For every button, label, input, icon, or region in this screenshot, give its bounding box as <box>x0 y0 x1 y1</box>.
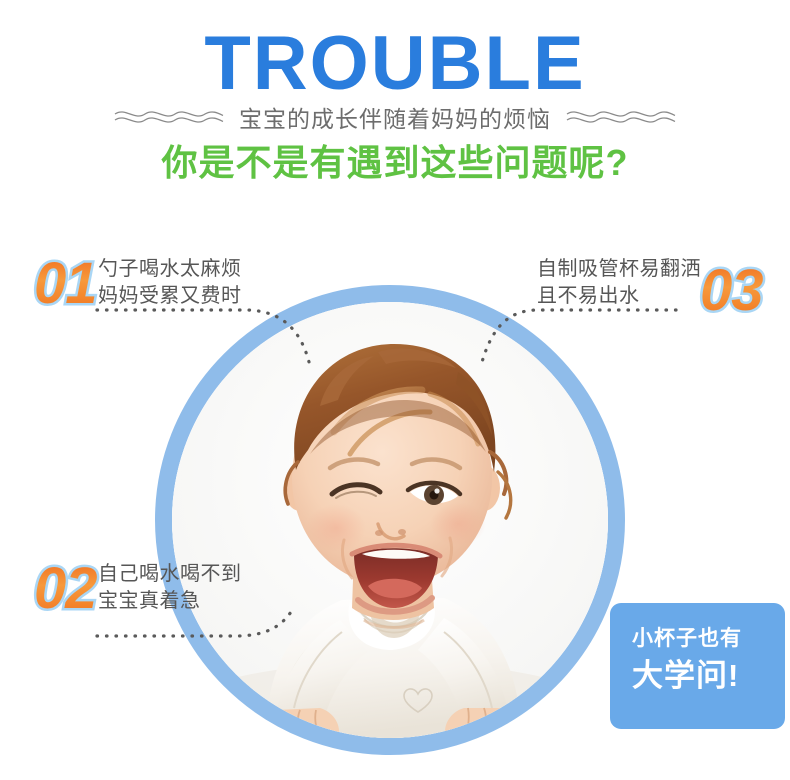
callout-small-text: 小杯子也有 <box>632 625 785 653</box>
problem-label-01: 勺子喝水太麻烦 妈妈受累又费时 <box>98 256 242 310</box>
subtitle-question: 你是不是有遇到这些问题呢? <box>0 140 790 186</box>
problem-label-01-line1: 勺子喝水太麻烦 <box>98 256 242 283</box>
page-title: TROUBLE <box>0 22 790 106</box>
problem-label-02: 自己喝水喝不到 宝宝真着急 <box>98 561 242 615</box>
subtitle-text: 宝宝的成长伴随着妈妈的烦恼 <box>239 104 551 134</box>
wave-decoration-left-icon <box>113 106 225 133</box>
leader-line-03 <box>478 300 678 370</box>
problem-label-03-line2: 且不易出水 <box>537 283 701 310</box>
callout-box: 小杯子也有 大学问! <box>610 603 785 729</box>
problem-label-02-line2: 宝宝真着急 <box>98 588 242 615</box>
problem-number-02-fill: 02 <box>34 556 97 621</box>
problem-number-02: 02 02 <box>34 560 97 618</box>
problem-number-01: 01 01 <box>34 255 97 313</box>
problem-number-03: 03 03 <box>700 262 763 320</box>
problem-number-03-fill: 03 <box>700 258 763 323</box>
problem-label-01-line2: 妈妈受累又费时 <box>98 283 242 310</box>
problem-label-03-line1: 自制吸管杯易翻洒 <box>537 256 701 283</box>
subtitle-row: 宝宝的成长伴随着妈妈的烦恼 <box>0 104 790 134</box>
callout-big-text: 大学问! <box>632 655 785 697</box>
problem-label-03: 自制吸管杯易翻洒 且不易出水 <box>537 256 701 310</box>
problem-number-01-fill: 01 <box>34 251 97 316</box>
wave-decoration-right-icon <box>565 106 677 133</box>
leader-line-01 <box>95 300 325 370</box>
promo-page: TROUBLE 宝宝的成长伴随着妈妈的烦恼 你是不是有遇到这些问题呢? <box>0 0 790 780</box>
problem-label-02-line1: 自己喝水喝不到 <box>98 561 242 588</box>
